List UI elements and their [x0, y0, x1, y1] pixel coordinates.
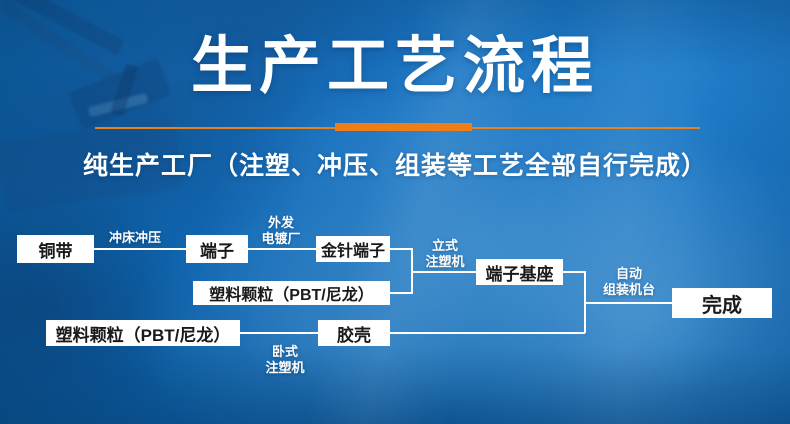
flow-node-label: 胶壳	[337, 321, 371, 346]
flow-edge-label-stamping: 冲床冲压	[98, 230, 172, 246]
flow-node-copper-strip[interactable]: 铜带	[17, 235, 94, 263]
flow-node-gold-pin-terminal[interactable]: 金针端子	[316, 236, 390, 262]
flow-node-label: 端子基座	[486, 260, 554, 285]
flow-node-finished[interactable]: 完成	[672, 288, 772, 318]
flow-node-plastic-pellets-bottom[interactable]: 塑料颗粒（PBT/尼龙）	[46, 320, 240, 346]
flow-node-plastic-pellets-top[interactable]: 塑料颗粒（PBT/尼龙）	[193, 281, 390, 305]
flow-node-label: 端子	[200, 237, 234, 262]
flow-node-label: 金针端子	[321, 237, 385, 261]
flow-node-terminal[interactable]: 端子	[186, 235, 248, 263]
production-process-banner: 生产工艺流程 纯生产工厂（注塑、冲压、组装等工艺全部自行完成）	[0, 0, 790, 424]
flow-node-housing[interactable]: 胶壳	[318, 320, 390, 346]
flow-connectors	[0, 0, 790, 424]
flow-node-terminal-base[interactable]: 端子基座	[476, 259, 563, 285]
flow-edge-line: 电镀厂	[250, 231, 312, 247]
process-flow-diagram: 铜带 端子 金针端子 塑料颗粒（PBT/尼龙） 端子基座 塑料颗粒（PBT/尼龙…	[0, 0, 790, 424]
flow-edge-line: 冲床冲压	[98, 230, 172, 246]
flow-edge-line: 注塑机	[415, 254, 475, 270]
flow-edge-line: 组装机台	[588, 282, 670, 298]
flow-edge-line: 立式	[415, 238, 475, 254]
flow-edge-line: 卧式	[255, 344, 315, 360]
flow-edge-line: 外发	[250, 215, 312, 231]
flow-edge-line: 注塑机	[255, 360, 315, 376]
flow-edge-label-horizontal-molding: 卧式 注塑机	[255, 344, 315, 376]
flow-node-label: 完成	[702, 289, 742, 318]
flow-node-label: 铜带	[39, 237, 73, 262]
flow-edge-line: 自动	[588, 266, 670, 282]
flow-edge-label-outsourced-plating: 外发 电镀厂	[250, 215, 312, 247]
flow-node-label: 塑料颗粒（PBT/尼龙）	[209, 281, 373, 305]
flow-edge-label-vertical-molding: 立式 注塑机	[415, 238, 475, 270]
flow-edge-label-auto-assembly: 自动 组装机台	[588, 266, 670, 298]
flow-node-label: 塑料颗粒（PBT/尼龙）	[56, 321, 231, 346]
